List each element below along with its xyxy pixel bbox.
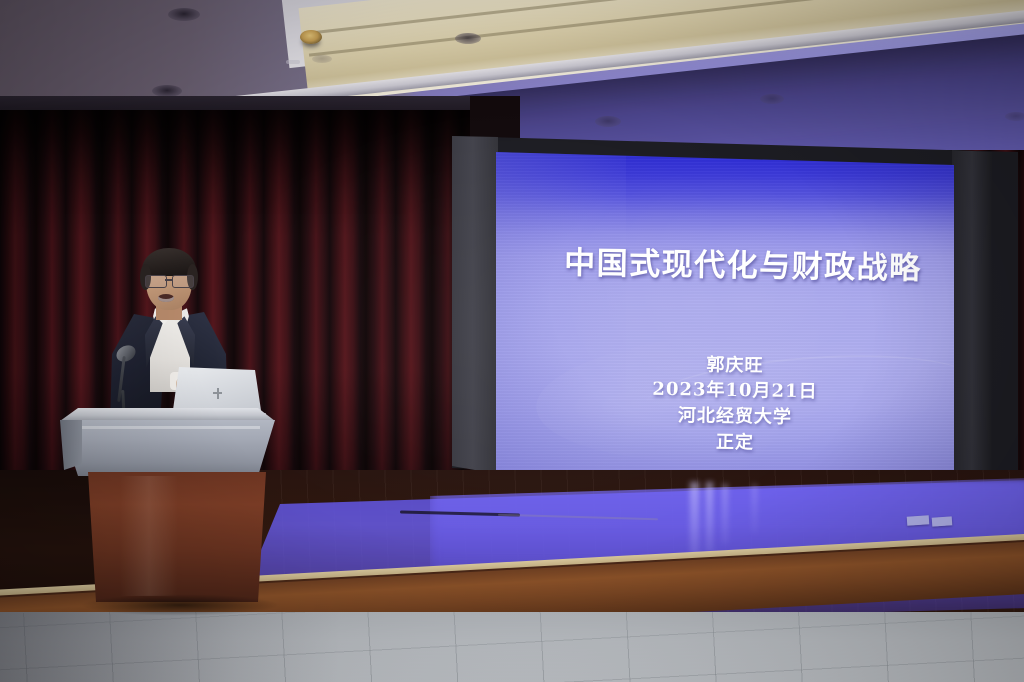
recessed-downlight (168, 8, 200, 21)
led-screen-right-bezel (952, 150, 992, 494)
podium-left-side (60, 420, 82, 470)
floor-light-streak (690, 482, 699, 560)
laptop-brand-logo-icon (212, 388, 223, 399)
slide-content: 中国式现代化与财政战略 郭庆旺 2023年10月21日 河北经贸大学 正定 (496, 152, 954, 478)
podium-floor-shadow (80, 594, 280, 616)
recessed-downlight (312, 55, 332, 63)
floor-marker-tape (907, 515, 930, 526)
recessed-downlight (595, 116, 621, 127)
sprinkler-head-icon (300, 30, 322, 44)
mouth (158, 294, 174, 302)
floor-light-streak (722, 484, 728, 544)
podium-desktop-surface (60, 408, 275, 421)
floor-light-streak (706, 482, 713, 554)
podium-base-sheen (120, 476, 178, 596)
podium-front-highlight (74, 426, 260, 429)
ceiling-vent-slot (286, 60, 300, 64)
eyeglass-bridge (165, 279, 172, 281)
podium-area (60, 250, 300, 670)
recessed-downlight (1005, 112, 1024, 121)
recessed-downlight (455, 33, 481, 44)
floor-marker-tape (932, 516, 953, 526)
recessed-downlight (760, 94, 784, 104)
slide-title: 中国式现代化与财政战略 (514, 236, 954, 288)
led-screen-left-bezel (452, 136, 498, 486)
led-presentation-screen[interactable]: 中国式现代化与财政战略 郭庆旺 2023年10月21日 河北经贸大学 正定 (496, 152, 954, 478)
floor-light-streak (752, 484, 757, 534)
eyeglass-lens-right (172, 275, 194, 288)
eyeglass-lens-left (145, 275, 167, 288)
auditorium-scene: 中国式现代化与财政战略 郭庆旺 2023年10月21日 河北经贸大学 正定 (0, 0, 1024, 682)
eyeglasses-icon (144, 275, 194, 286)
